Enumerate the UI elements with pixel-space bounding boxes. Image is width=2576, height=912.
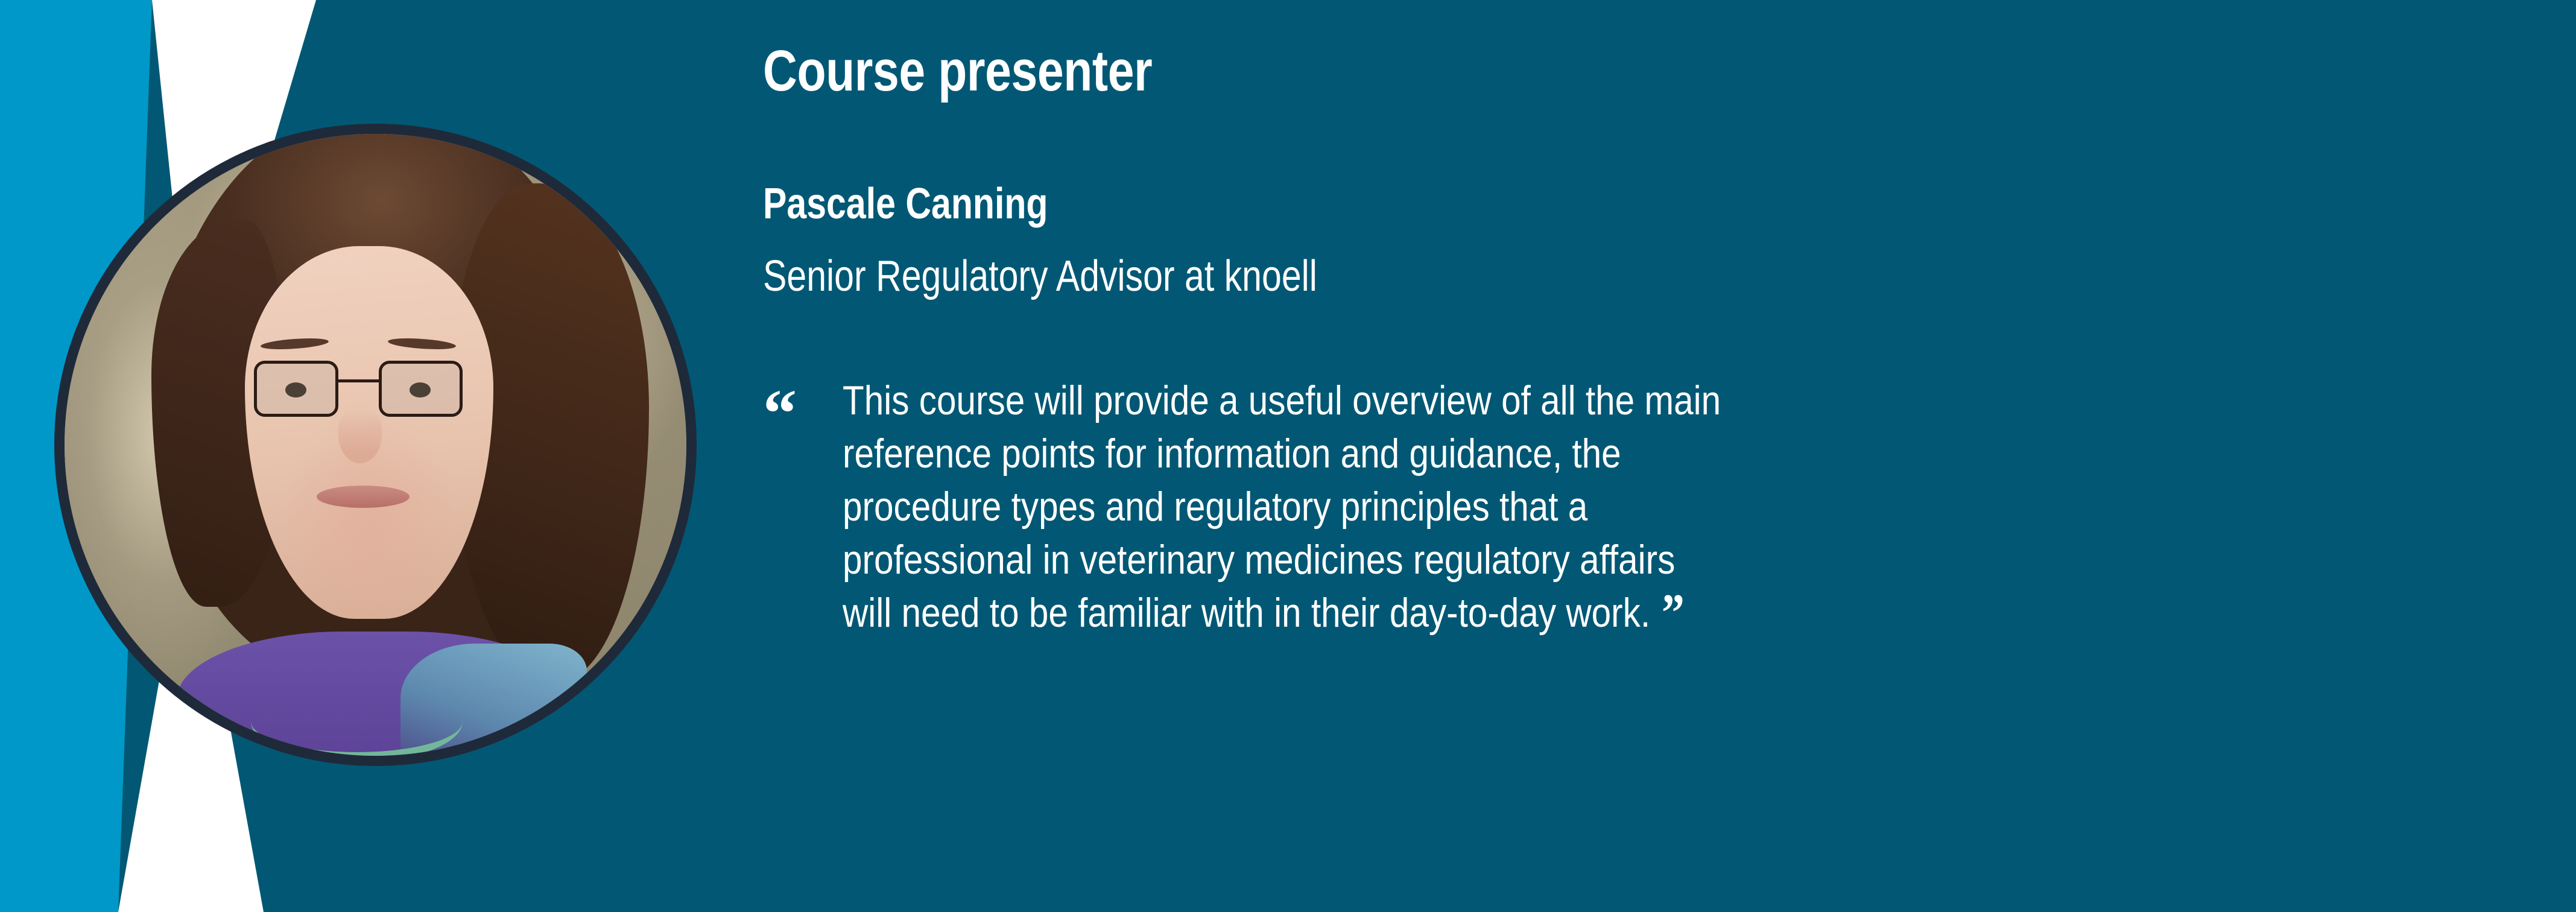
card-heading: Course presenter bbox=[763, 42, 1152, 100]
quote-line: professional in veterinary medicines reg… bbox=[843, 533, 2217, 586]
quote-line-last: will need to be familiar with in their d… bbox=[843, 586, 2217, 640]
photo-nose bbox=[338, 408, 382, 464]
quote-line: reference points for information and gui… bbox=[843, 427, 2217, 480]
photo-necklace bbox=[251, 681, 463, 762]
photo-eye-left bbox=[285, 382, 306, 397]
course-presenter-card: Course presenter Pascale Canning Senior … bbox=[0, 0, 2576, 912]
quote-body: This course will provide a useful overvi… bbox=[843, 374, 2441, 640]
quote-line: procedure types and regulatory principle… bbox=[843, 480, 2217, 533]
presenter-photo bbox=[65, 134, 686, 756]
quote-line: This course will provide a useful overvi… bbox=[843, 374, 2217, 427]
presenter-name: Pascale Canning bbox=[763, 182, 1048, 226]
photo-glasses-bridge bbox=[338, 379, 379, 382]
photo-mouth bbox=[317, 486, 410, 508]
quote-line: will need to be familiar with in their d… bbox=[843, 590, 1650, 636]
quote-open-mark-icon: “ bbox=[763, 380, 797, 448]
presenter-avatar bbox=[54, 124, 697, 766]
quote-close-mark-icon: ” bbox=[1662, 587, 1685, 640]
presenter-text-column: Course presenter Pascale Canning Senior … bbox=[763, 0, 2440, 912]
presenter-role: Senior Regulatory Advisor at knoell bbox=[763, 255, 1317, 298]
